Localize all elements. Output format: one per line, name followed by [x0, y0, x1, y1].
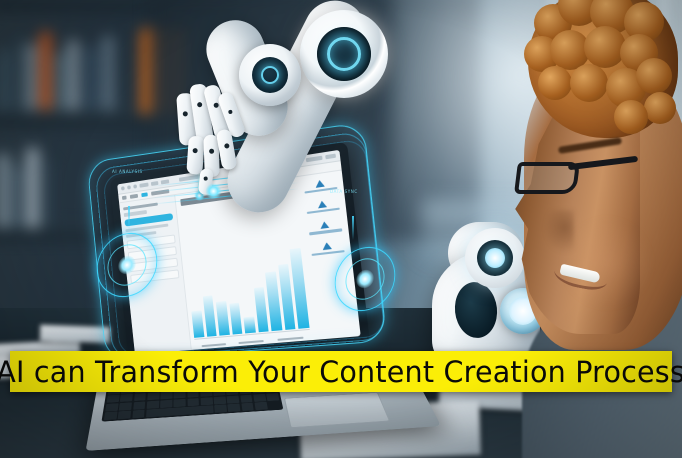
woman-glasses	[516, 156, 634, 196]
chart-icon[interactable]	[300, 177, 341, 194]
chart-icon[interactable]	[305, 219, 346, 236]
scene-image: AI ANALYSIS DATA SYNC	[0, 0, 682, 458]
chart-icon[interactable]	[302, 198, 343, 215]
headline-text: AI can Transform Your Content Creation P…	[0, 355, 682, 389]
headline-banner: AI can Transform Your Content Creation P…	[10, 351, 672, 392]
woman-nose-shadow	[544, 210, 574, 254]
chart-icon[interactable]	[307, 240, 348, 256]
bar-chart	[186, 248, 309, 338]
sidebar-card[interactable]	[130, 269, 179, 283]
robot-shoulder-joint-ring	[300, 10, 388, 98]
laptop-trackpad[interactable]	[284, 392, 390, 428]
